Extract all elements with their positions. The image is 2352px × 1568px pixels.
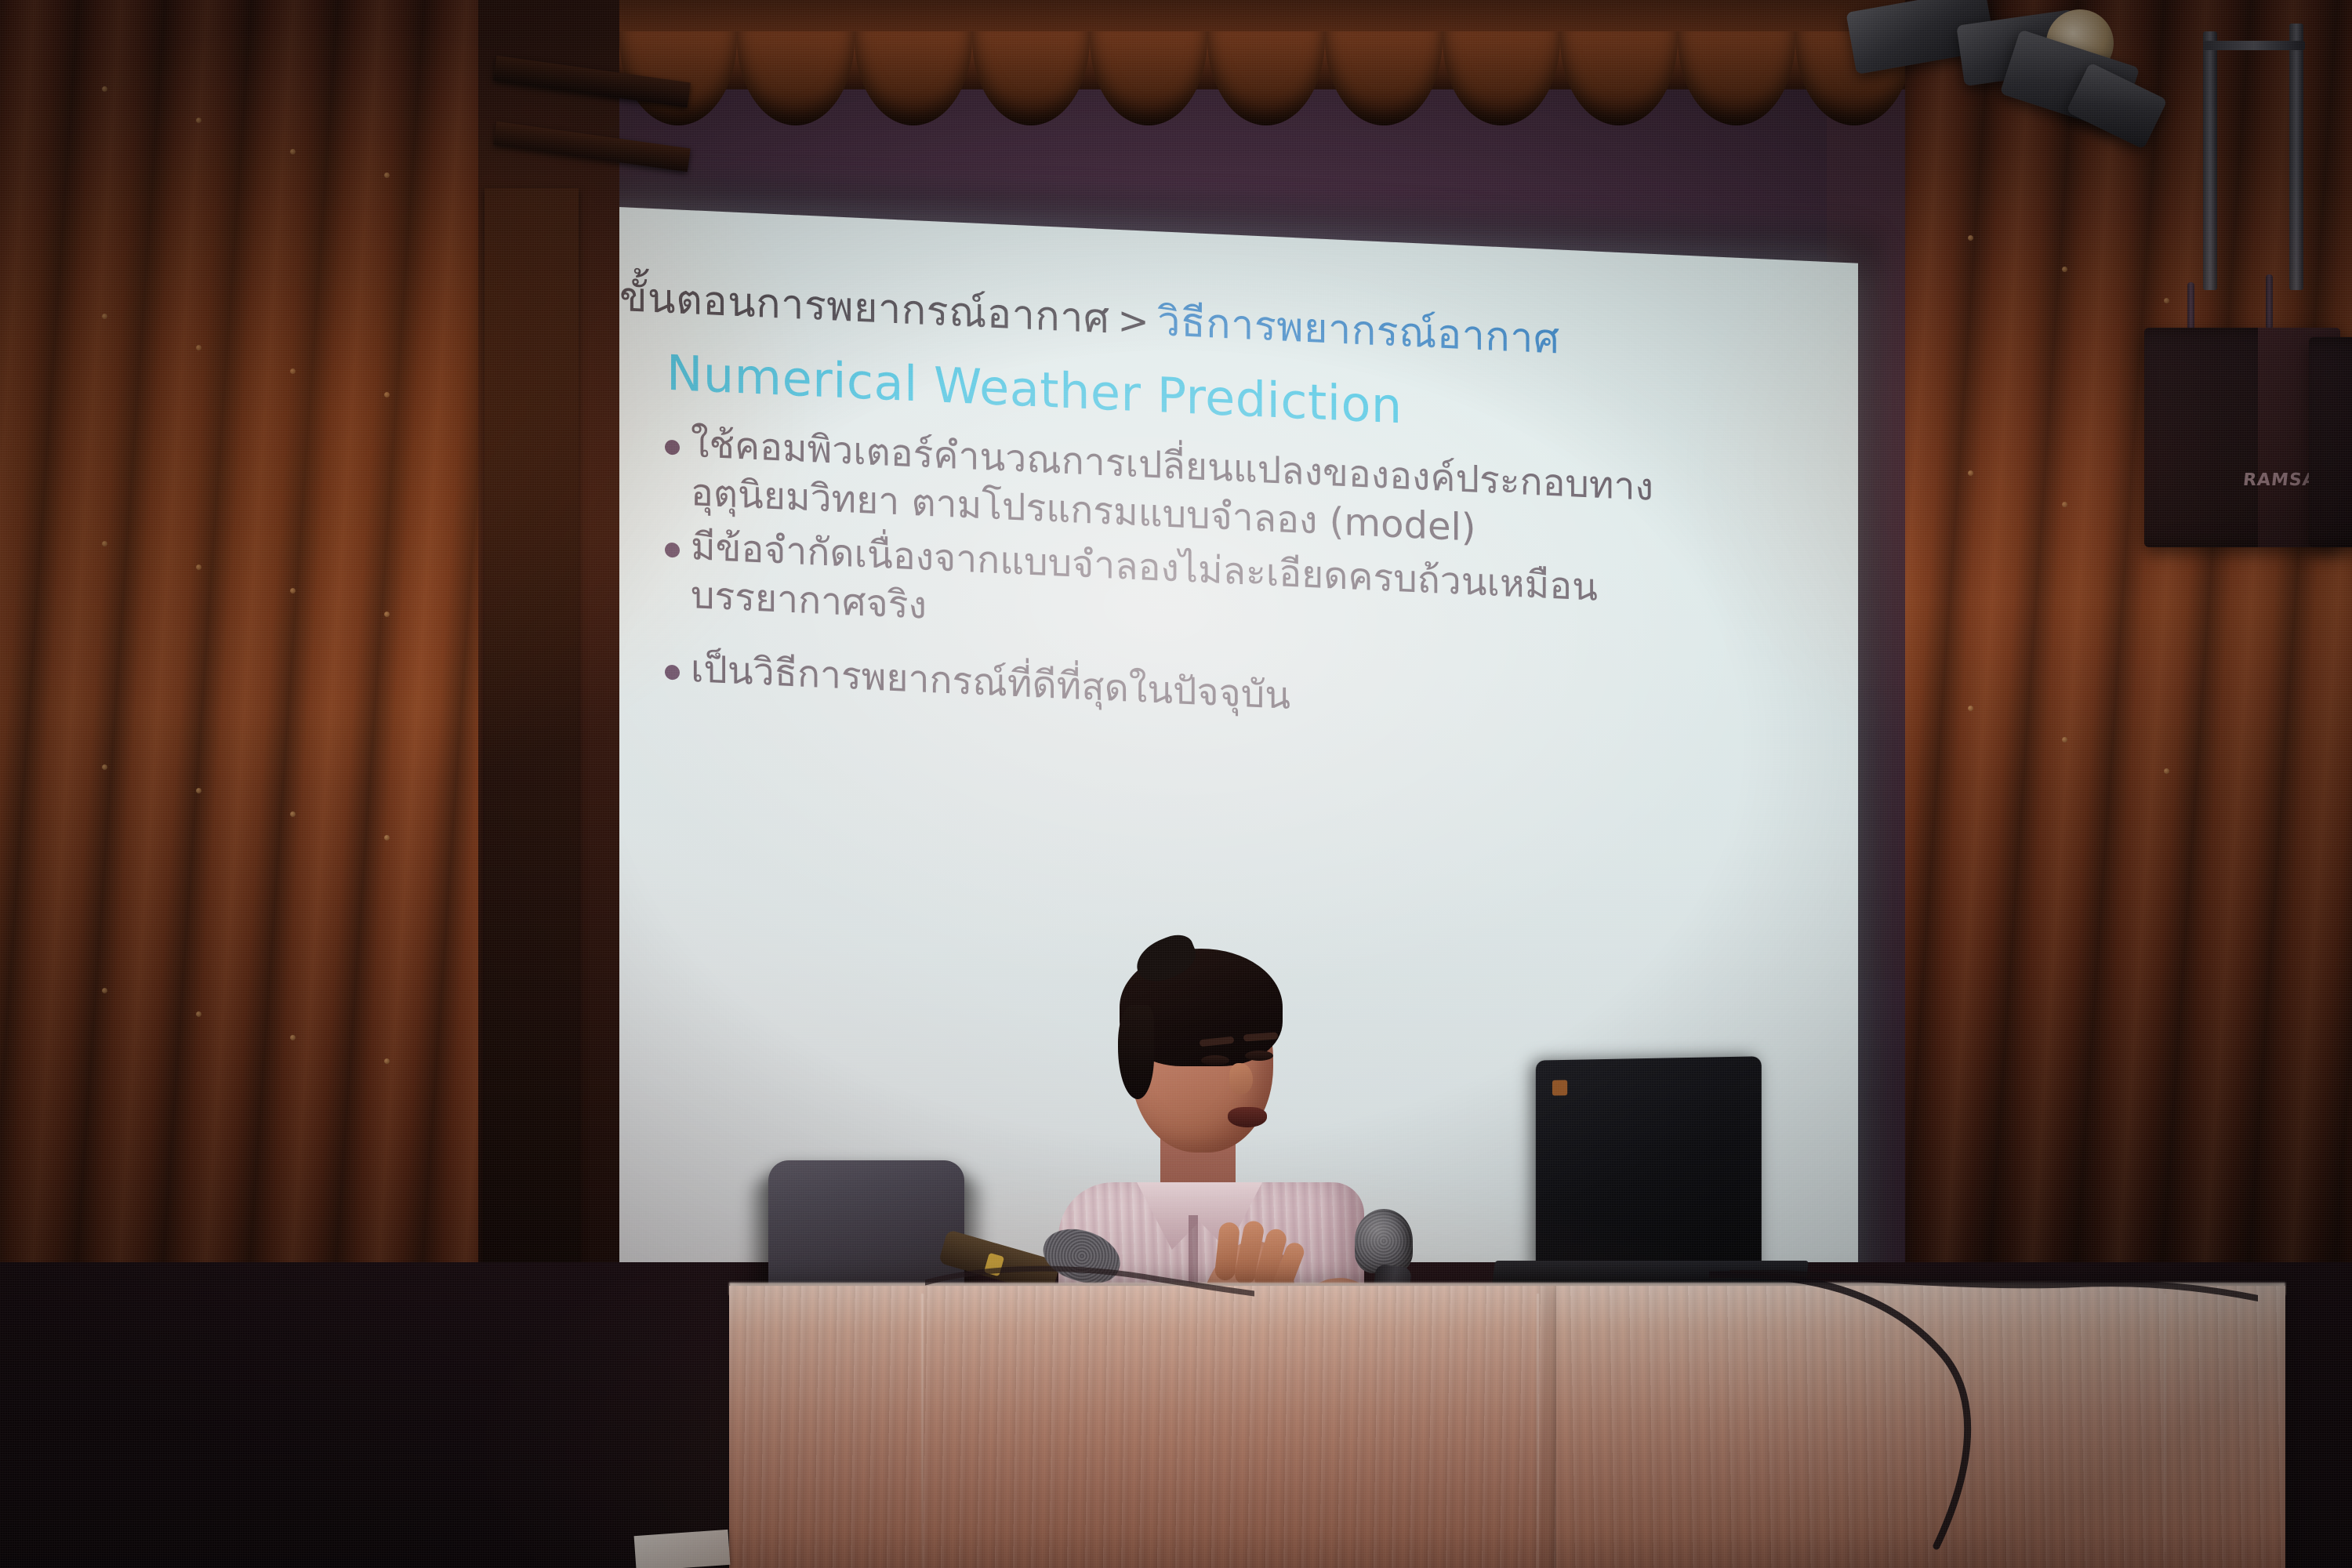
- equipment-cable: [1709, 1270, 2258, 1568]
- breadcrumb-parent: ขั้นตอนการพยากรณ์อากาศ: [619, 274, 1109, 343]
- stage-curtain-right: [1905, 0, 2352, 1333]
- bullet-line: บรรยากาศจริง: [691, 573, 927, 628]
- laptop-brand-logo-icon: [1552, 1080, 1567, 1096]
- hanging-speaker: RAMSA: [2309, 337, 2352, 547]
- speaker-rigging-truss: [2289, 24, 2303, 290]
- speaker-hanger-rod: [2266, 274, 2273, 329]
- slide-bullet-list: ใช้คอมพิวเตอร์คำนวณการเปลี่ยนแปลงขององค์…: [665, 418, 1811, 744]
- tablecloth-fold: [1537, 1294, 1539, 1568]
- laptop: [1536, 1056, 1762, 1276]
- speaker-brand-logo: RAMSA: [2242, 470, 2318, 490]
- tablecloth-fold: [921, 1294, 924, 1568]
- presenter-eye: [1201, 1055, 1229, 1065]
- bullet-dot-icon: [665, 439, 680, 455]
- handheld-microphone-head: [1355, 1209, 1413, 1273]
- bullet-dot-icon: [665, 665, 680, 681]
- presentation-photo-scene: ขั้นตอนการพยากรณ์อากาศ>วิธีการพยากรณ์อาก…: [0, 0, 2352, 1568]
- breadcrumb-child: วิธีการพยากรณ์อากาศ: [1157, 298, 1559, 363]
- stage-frame-post: [485, 188, 579, 1301]
- papers-on-stage: [634, 1530, 731, 1568]
- equipment-cable: [925, 1259, 1254, 1306]
- breadcrumb-separator: >: [1109, 298, 1157, 344]
- draped-table-cloth: [729, 1286, 1560, 1568]
- speaker-rigging-crossbar: [2203, 41, 2305, 50]
- presenter-sideburn: [1118, 1005, 1154, 1099]
- presenter-nose: [1229, 1063, 1253, 1094]
- speaker-rigging-truss: [2203, 31, 2217, 290]
- presenter-eye: [1245, 1051, 1273, 1061]
- presenter-mouth: [1228, 1107, 1267, 1127]
- bullet-dot-icon: [665, 542, 680, 557]
